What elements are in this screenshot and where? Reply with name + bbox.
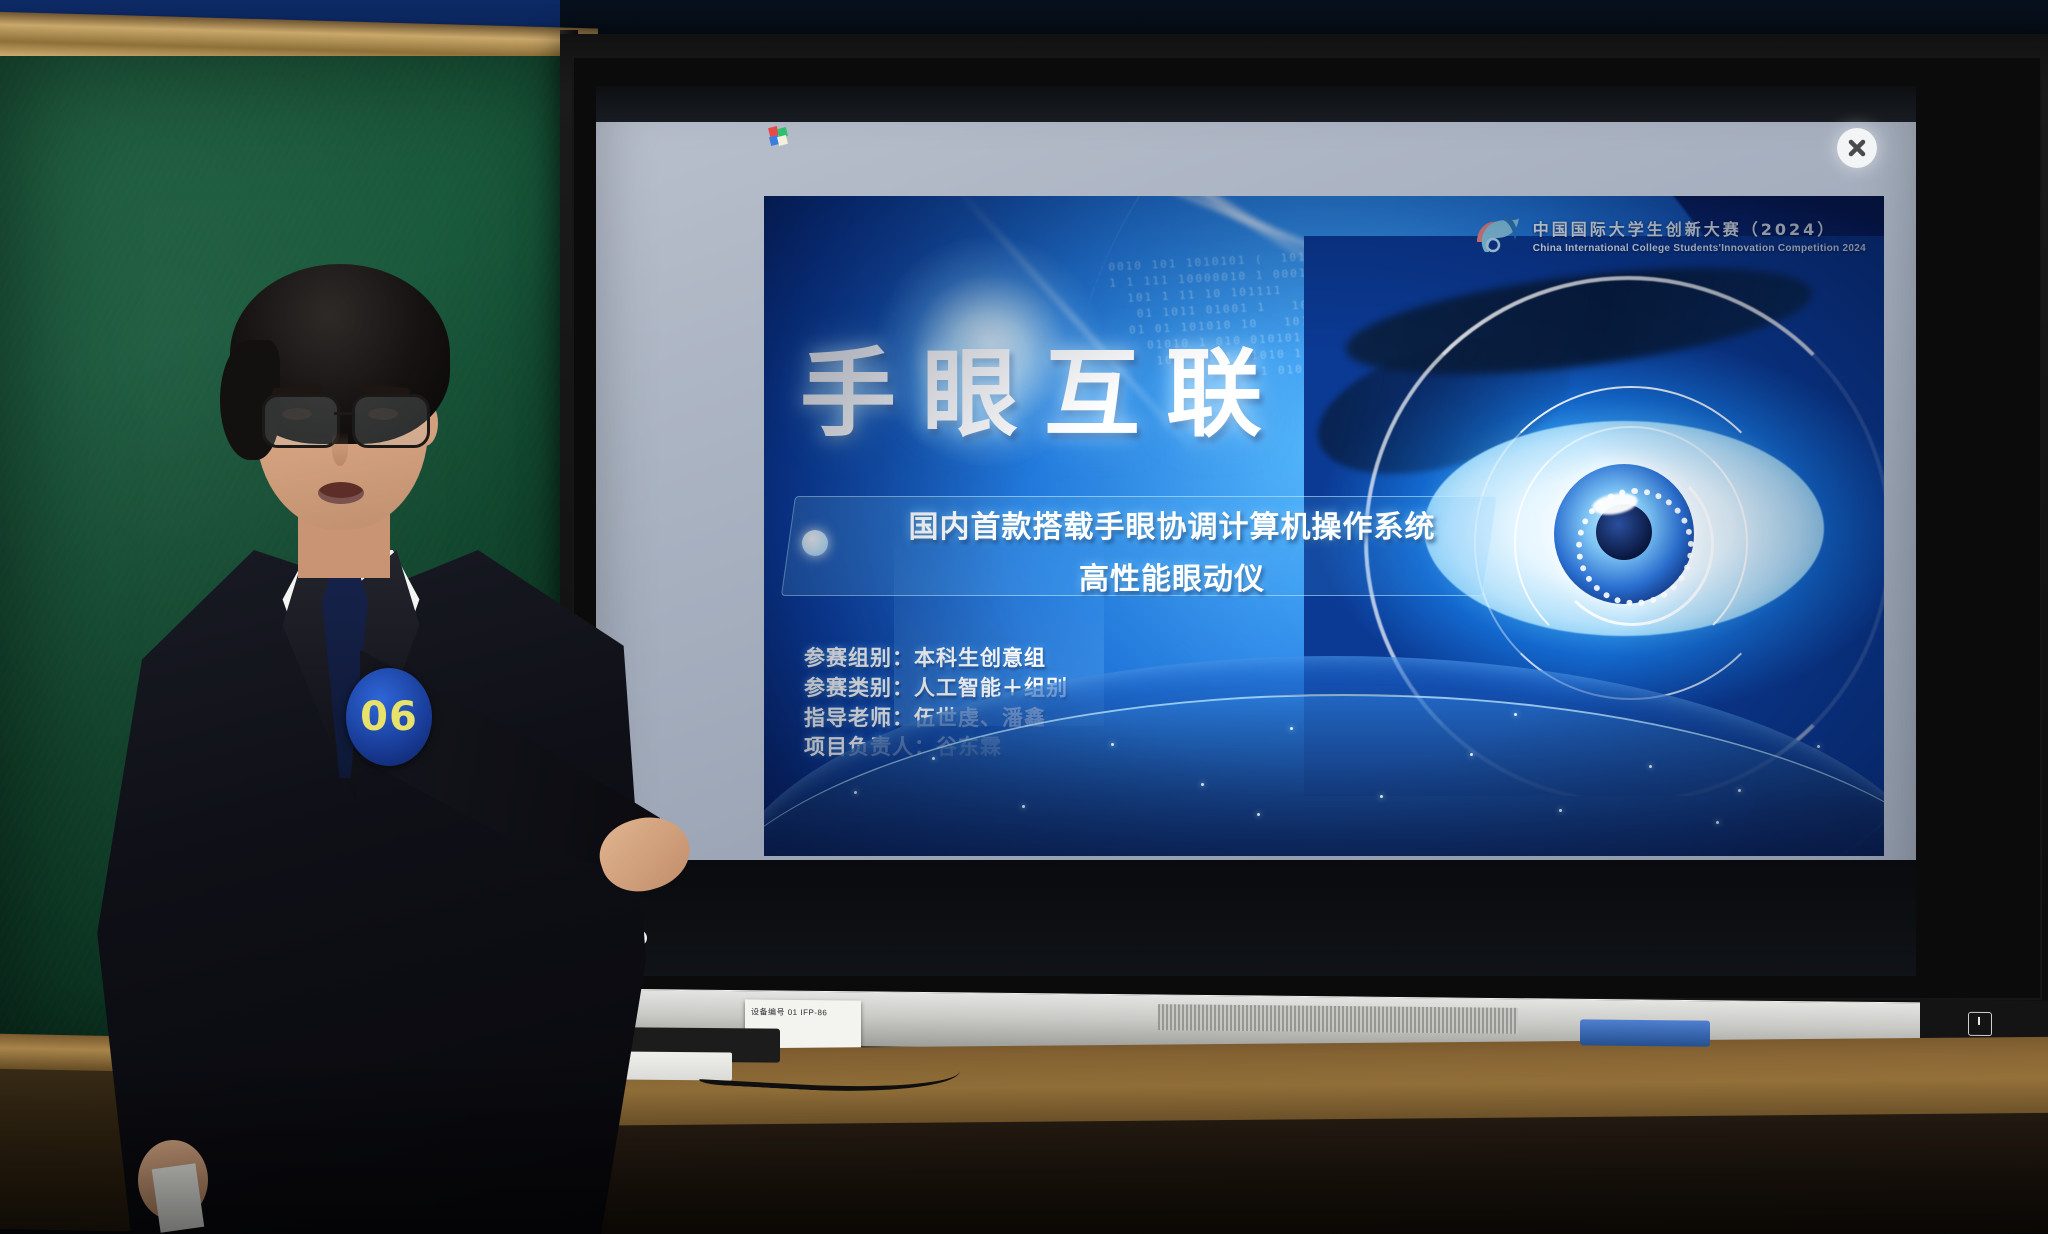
presenter-glasses-left-lens [262,394,340,448]
blue-folder [1580,1019,1710,1046]
presentation-slide[interactable]: 0010 101 1010101 ( 101 10101 1 1 111 100… [764,196,1884,856]
presenter-paper-notes [152,1163,204,1233]
presenter-glasses-bridge [334,412,354,415]
contestant-badge: 06 [346,668,432,766]
close-icon[interactable] [1837,128,1877,168]
presenter-nose [332,432,348,466]
screenshot-root: 0010 101 1010101 ( 101 10101 1 1 111 100… [0,0,2048,1234]
presenter-mouth [318,482,364,504]
screen-top-band [596,86,1916,122]
presenter-glasses-right-lens [352,394,430,448]
screen-bottom-band [596,860,1916,976]
presenter: 06 [60,250,780,1234]
power-icon[interactable] [1968,1012,1992,1036]
wps-office-icon[interactable] [766,124,792,150]
badge-number: 06 [360,694,418,740]
speaker-grille [1158,1004,1518,1034]
slide-vignette [764,196,1884,856]
